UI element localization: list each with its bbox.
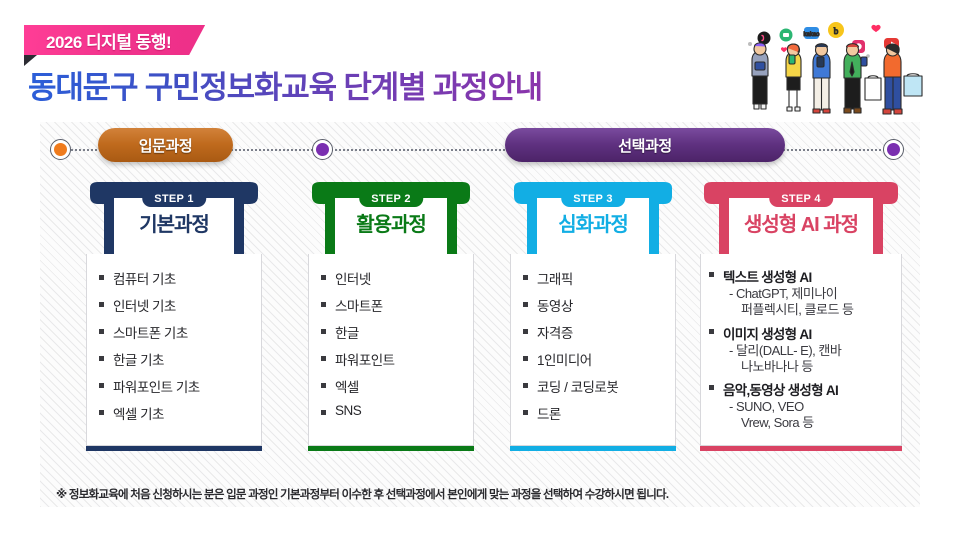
footer-note-text: ※ 정보화교육에 처음 신청하시는 분은 입문 과정인 기본과정부터 이수한 후… — [40, 486, 668, 502]
step-title-2: 활용과정 — [308, 208, 474, 237]
list-item: 드론 — [511, 403, 675, 423]
step-card-4[interactable]: STEP 4 생성형 AI 과정 텍스트 생성형 AI - ChatGPT, 제… — [700, 182, 902, 451]
step-banner-2: STEP 2 활용과정 — [308, 182, 474, 254]
list-item: 파워포인트 기초 — [87, 376, 261, 396]
step-title-3: 심화과정 — [510, 208, 676, 237]
group-detail-line1: - SUNO, VEO — [729, 399, 804, 414]
step-body-1: 컴퓨터 기초 인터넷 기초 스마트폰 기초 한글 기초 파워포인트 기초 엑셀 … — [86, 254, 262, 446]
group-detail-line2: 퍼플렉시티, 클로드 등 — [729, 302, 901, 318]
step-chip-1: STEP 1 — [142, 190, 206, 207]
group-heading: 텍스트 생성형 AI — [701, 266, 901, 286]
list-item: 한글 — [309, 322, 473, 342]
group-detail: - 달리(DALL- E), 캔바 나노바나나 등 — [701, 343, 901, 375]
list-item: 텍스트 생성형 AI - ChatGPT, 제미나이 퍼플렉시티, 클로드 등 — [701, 266, 901, 318]
list-item: SNS — [309, 403, 473, 418]
track-marker-mid-fill — [316, 143, 329, 156]
step-chip-4: STEP 4 — [769, 190, 833, 207]
step-title-4: 생성형 AI 과정 — [700, 208, 902, 237]
track-marker-start-fill — [54, 143, 67, 156]
group-detail-line1: - 달리(DALL- E), 캔바 — [729, 343, 841, 358]
list-item: 그래픽 — [511, 268, 675, 288]
step-card-2[interactable]: STEP 2 활용과정 인터넷 스마트폰 한글 파워포인트 엑셀 SNS — [308, 182, 474, 451]
footer-note-bar: ※ 정보화교육에 처음 신청하시는 분은 입문 과정인 기본과정부터 이수한 후… — [40, 480, 920, 507]
list-item: 1인미디어 — [511, 349, 675, 369]
campaign-ribbon: 2026 디지털 동행! — [24, 25, 205, 55]
list-item: 동영상 — [511, 295, 675, 315]
page-title: 동대문구 구민정보화교육 단계별 과정안내 — [28, 62, 542, 107]
list-item: 컴퓨터 기초 — [87, 268, 261, 288]
svg-text:kakao: kakao — [803, 32, 820, 38]
group-heading: 이미지 생성형 AI — [701, 323, 901, 343]
step-chip-4-label: STEP 4 — [781, 193, 821, 205]
step-body-2: 인터넷 스마트폰 한글 파워포인트 엑셀 SNS — [308, 254, 474, 446]
list-item: 스마트폰 기초 — [87, 322, 261, 342]
step-chip-3: STEP 3 — [561, 190, 625, 207]
step-card-3[interactable]: STEP 3 심화과정 그래픽 동영상 자격증 1인미디어 코딩 / 코딩로봇 … — [510, 182, 676, 451]
step-title-1: 기본과정 — [86, 208, 262, 237]
track-marker-end-fill — [887, 143, 900, 156]
list-item: 음악,동영상 생성형 AI - SUNO, VEO Vrew, Sora 등 — [701, 379, 901, 431]
step-accent-bar-1 — [86, 446, 262, 451]
step-item-list-2: 인터넷 스마트폰 한글 파워포인트 엑셀 SNS — [309, 254, 473, 418]
step-body-4: 텍스트 생성형 AI - ChatGPT, 제미나이 퍼플렉시티, 클로드 등 … — [700, 254, 902, 446]
course-track-rail: 입문과정 선택과정 — [40, 128, 920, 172]
track-pill-intro-label: 입문과정 — [139, 135, 193, 156]
step-chip-3-label: STEP 3 — [573, 193, 613, 205]
step-banner-3: STEP 3 심화과정 — [510, 182, 676, 254]
step-item-list-1: 컴퓨터 기초 인터넷 기초 스마트폰 기초 한글 기초 파워포인트 기초 엑셀 … — [87, 254, 261, 423]
step-card-1[interactable]: STEP 1 기본과정 컴퓨터 기초 인터넷 기초 스마트폰 기초 한글 기초 … — [86, 182, 262, 451]
step-chip-2-label: STEP 2 — [371, 193, 411, 205]
step-accent-bar-3 — [510, 446, 676, 451]
step-chip-1-label: STEP 1 — [154, 193, 194, 205]
list-item: 인터넷 — [309, 268, 473, 288]
group-heading: 음악,동영상 생성형 AI — [701, 379, 901, 399]
list-item: 한글 기초 — [87, 349, 261, 369]
people-with-smartphones-illustration: kakao b — [728, 8, 952, 120]
track-pill-intro[interactable]: 입문과정 — [98, 128, 233, 162]
step-accent-bar-2 — [308, 446, 474, 451]
list-item: 엑셀 기초 — [87, 403, 261, 423]
page-header: 2026 디지털 동행! 동대문구 구민정보화교육 단계별 과정안내 kakao… — [0, 0, 960, 122]
campaign-ribbon-label: 2026 디지털 동행! — [46, 28, 171, 53]
step-banner-1: STEP 1 기본과정 — [86, 182, 262, 254]
list-item: 파워포인트 — [309, 349, 473, 369]
track-pill-elective[interactable]: 선택과정 — [505, 128, 785, 162]
list-item: 코딩 / 코딩로봇 — [511, 376, 675, 396]
svg-text:b: b — [834, 26, 839, 36]
course-track-panel: 입문과정 선택과정 STEP 1 기본과정 — [40, 122, 920, 507]
list-item: 자격증 — [511, 322, 675, 342]
list-item: 이미지 생성형 AI - 달리(DALL- E), 캔바 나노바나나 등 — [701, 323, 901, 375]
list-item: 인터넷 기초 — [87, 295, 261, 315]
step-chip-2: STEP 2 — [359, 190, 423, 207]
group-detail-line2: 나노바나나 등 — [729, 359, 901, 375]
step-banner-4: STEP 4 생성형 AI 과정 — [700, 182, 902, 254]
step-item-list-3: 그래픽 동영상 자격증 1인미디어 코딩 / 코딩로봇 드론 — [511, 254, 675, 423]
step-accent-bar-4 — [700, 446, 902, 451]
track-pill-elective-label: 선택과정 — [618, 135, 672, 156]
list-item: 엑셀 — [309, 376, 473, 396]
group-detail-line1: - ChatGPT, 제미나이 — [729, 286, 837, 301]
group-detail: - ChatGPT, 제미나이 퍼플렉시티, 클로드 등 — [701, 286, 901, 318]
group-detail: - SUNO, VEO Vrew, Sora 등 — [701, 399, 901, 431]
infographic-page: 2026 디지털 동행! 동대문구 구민정보화교육 단계별 과정안내 kakao… — [0, 0, 960, 540]
step-item-list-4: 텍스트 생성형 AI - ChatGPT, 제미나이 퍼플렉시티, 클로드 등 … — [701, 254, 901, 431]
group-detail-line2: Vrew, Sora 등 — [729, 415, 901, 431]
list-item: 스마트폰 — [309, 295, 473, 315]
step-body-3: 그래픽 동영상 자격증 1인미디어 코딩 / 코딩로봇 드론 — [510, 254, 676, 446]
